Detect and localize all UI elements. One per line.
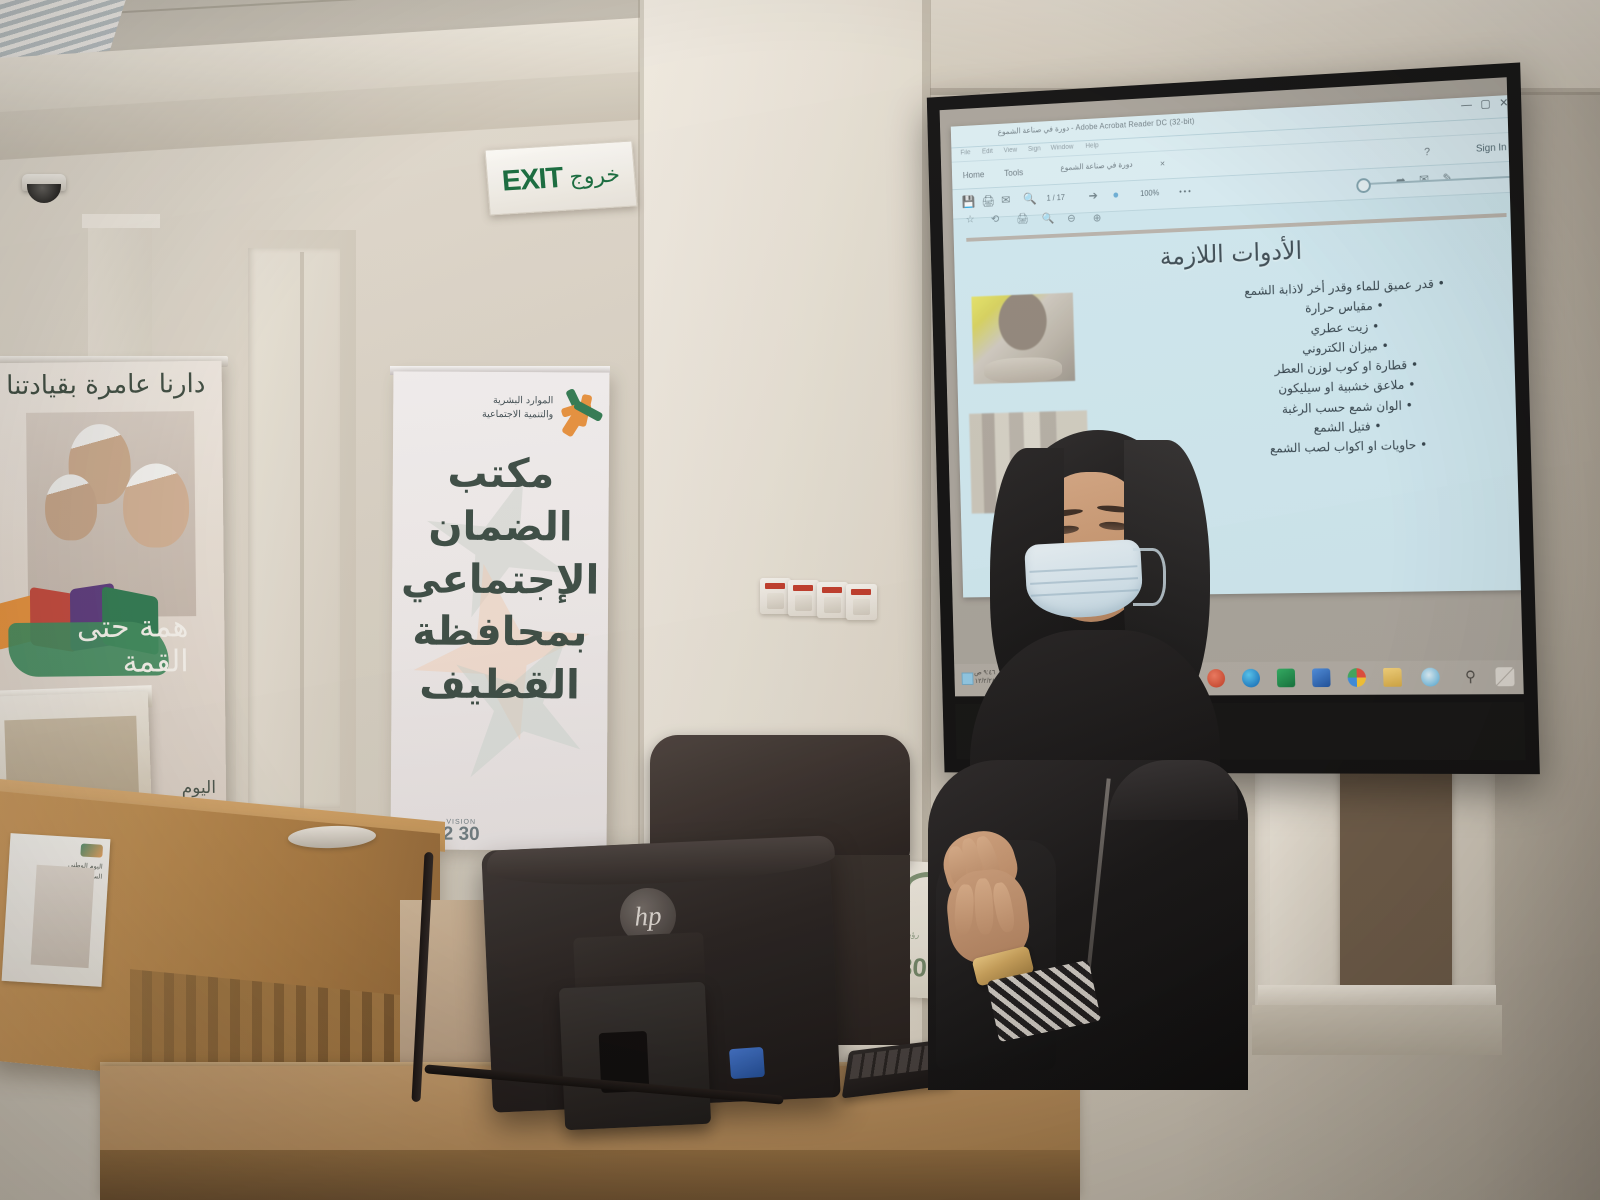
rotate-icon[interactable]: ⟲ — [991, 213, 1000, 226]
portrait-three — [45, 474, 98, 541]
poster-logo — [80, 843, 103, 857]
search-icon[interactable]: ⚲ — [1461, 667, 1480, 686]
window-frame — [1340, 765, 1452, 990]
star-icon[interactable]: ☆ — [966, 213, 975, 226]
menu-file[interactable]: File — [960, 149, 970, 156]
ministry-logo — [555, 388, 601, 434]
vision-number: 2 30 — [443, 826, 480, 844]
title-line-1: مكتب — [393, 447, 609, 501]
menu-sign[interactable]: Sign — [1028, 145, 1041, 152]
zoom-slider-track[interactable] — [1363, 176, 1509, 185]
search-icon[interactable]: 🔍 — [1023, 192, 1037, 206]
finger — [974, 878, 995, 935]
ministry-line-2: والتنمية الاجتماعية — [482, 408, 553, 422]
menu-view[interactable]: View — [1003, 147, 1017, 154]
floral-frosted-glass — [1344, 769, 1448, 986]
ministry-name: الموارد البشرية والتنمية الاجتماعية — [482, 394, 553, 422]
highlight-icon[interactable]: ● — [1112, 188, 1119, 202]
menu-edit[interactable]: Edit — [982, 148, 993, 155]
presenter — [918, 430, 1248, 1090]
internet-explorer-icon[interactable] — [1421, 668, 1440, 687]
title-line-2: الضمان — [392, 500, 608, 554]
zoom-in-icon[interactable]: ⊕ — [1093, 212, 1102, 225]
print-icon[interactable]: 🖨 — [1016, 212, 1029, 225]
select-tool-icon[interactable]: ➔ — [1088, 189, 1098, 203]
title-line-3: الإجتماعي — [392, 553, 608, 607]
windows-start-icon[interactable] — [1495, 667, 1514, 686]
menu-window[interactable]: Window — [1051, 144, 1074, 152]
switch-rocker[interactable] — [767, 593, 784, 609]
mask-ear-loop — [1133, 548, 1166, 606]
logo-text: همة حتى القمة — [14, 609, 189, 681]
window-title: دورة في صناعة الشموع - Adobe Acrobat Rea… — [998, 117, 1195, 137]
finger — [991, 881, 1017, 933]
switch-rocker[interactable] — [853, 599, 870, 615]
tab-document[interactable]: دورة في صناعة الشموع — [1060, 160, 1132, 172]
wall-switch[interactable] — [817, 582, 848, 618]
maximize-button[interactable]: ▢ — [1480, 99, 1491, 111]
mask-pleat — [1029, 565, 1137, 573]
minimize-button[interactable]: — — [1461, 100, 1472, 112]
window-sill — [1258, 985, 1496, 1007]
file-explorer-icon[interactable] — [1383, 668, 1402, 687]
switch-indicator — [793, 585, 813, 591]
save-icon[interactable]: 💾 — [962, 195, 976, 209]
tab-tools[interactable]: Tools — [1004, 167, 1023, 178]
zoom-out-icon[interactable]: ⊖ — [1067, 212, 1076, 225]
lectern-poster: اليوم الوطنيالسعودي — [2, 833, 111, 987]
page-indicator: 1 / 17 — [1046, 193, 1064, 203]
email-icon[interactable]: ✉ — [1001, 193, 1010, 207]
mask-pleat — [1031, 589, 1139, 597]
tab-home[interactable]: Home — [963, 170, 985, 181]
ministry-line-1: الموارد البشرية — [482, 394, 553, 408]
portrait-two — [123, 463, 190, 548]
exit-sign-arabic: خروج — [568, 162, 620, 190]
photo-scene: EXIT خروج دورة في صناعة الشموع - Adobe A… — [0, 0, 1600, 1200]
close-button[interactable]: ✕ — [1499, 98, 1508, 109]
more-tools-icon[interactable]: ••• — [1179, 187, 1193, 196]
menu-help[interactable]: Help — [1085, 142, 1098, 149]
wall-recess-edge — [300, 252, 304, 812]
switch-indicator — [822, 587, 842, 593]
excel-icon[interactable] — [1277, 669, 1296, 688]
niche-base — [1252, 1005, 1502, 1055]
switch-indicator — [765, 583, 785, 589]
vision-2030-logo: VISION 2 30 — [443, 819, 480, 844]
search-icon[interactable]: 🔍 — [1042, 212, 1055, 225]
hemma-logo: همة حتى القمة — [0, 563, 189, 697]
poster-artwork — [31, 865, 95, 968]
sign-in-button[interactable]: Sign In — [1476, 142, 1507, 155]
zoom-level[interactable]: 100% — [1140, 188, 1159, 198]
social-security-banner: الموارد البشرية والتنمية الاجتماعية مكتب… — [391, 371, 610, 850]
zoom-slider-knob[interactable] — [1356, 178, 1371, 193]
wall-column-cap — [82, 214, 160, 228]
switch-rocker[interactable] — [795, 595, 812, 611]
print-icon[interactable]: 🖨 — [981, 194, 995, 208]
word-icon[interactable] — [1312, 668, 1331, 687]
wall-recess-inner — [248, 248, 340, 808]
wall-switch[interactable] — [788, 580, 819, 616]
switch-indicator — [851, 589, 871, 595]
wall-switch[interactable] — [760, 578, 791, 614]
switch-rocker[interactable] — [824, 597, 841, 613]
help-icon[interactable]: ? — [1424, 146, 1430, 158]
desk-front — [100, 1150, 1080, 1200]
footer-line-1: اليوم — [182, 777, 217, 799]
vga-connector — [729, 1047, 765, 1079]
banner-headline: دارنا عامرة بقيادتنا — [0, 369, 222, 401]
mask-pleat — [1030, 577, 1138, 585]
finger — [953, 884, 974, 935]
exit-sign: EXIT خروج — [484, 140, 637, 215]
chrome-icon[interactable] — [1347, 668, 1366, 687]
title-line-5: القطيف — [391, 659, 607, 713]
wall-switch[interactable] — [846, 584, 877, 620]
title-line-4: بمحافظة — [392, 606, 608, 660]
tab-close-icon[interactable]: ✕ — [1160, 160, 1166, 168]
exit-sign-english: EXIT — [501, 161, 564, 198]
banner-title: مكتب الضمان الإجتماعي بمحافظة القطيف — [391, 447, 609, 712]
